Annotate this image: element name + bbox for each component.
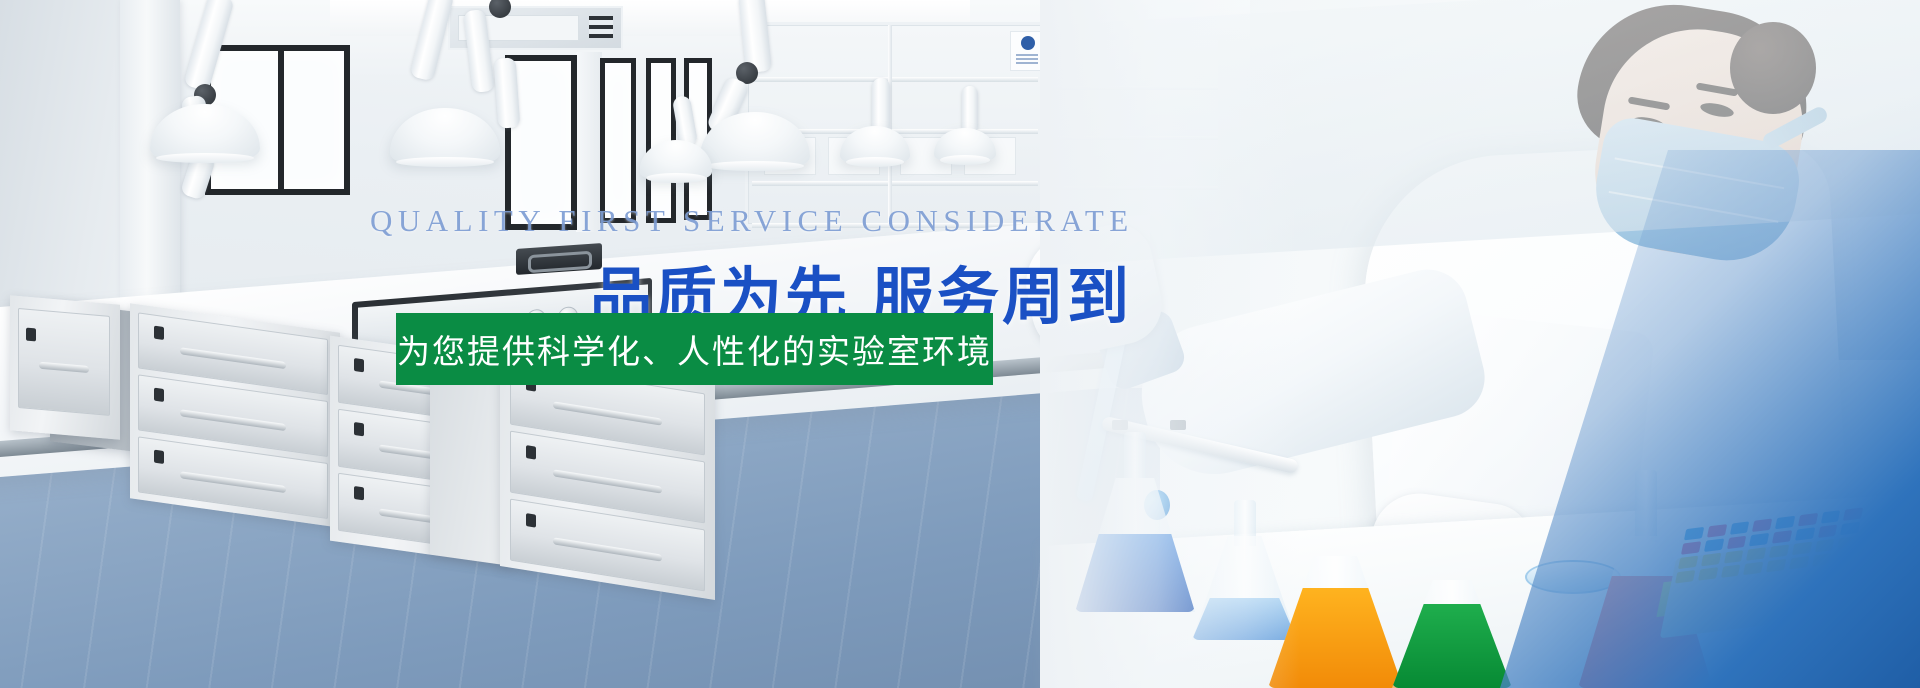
lock-icon: [26, 327, 36, 341]
lock-icon: [154, 325, 164, 339]
lock-icon: [354, 422, 364, 436]
drawer-handle[interactable]: [180, 471, 285, 493]
lab-technician-scene: [1040, 0, 1920, 688]
window-center-2: [600, 58, 636, 223]
lock-icon: [154, 387, 164, 401]
drawer[interactable]: [18, 308, 110, 416]
cabinet-right-front: [500, 351, 715, 600]
banner-eyebrow-text: QUALITY FIRST SERVICE CONSIDERATE: [370, 203, 1134, 239]
lock-icon: [354, 358, 364, 372]
cabinet-a: [130, 303, 340, 528]
lock-icon: [154, 449, 164, 463]
drawer-handle[interactable]: [553, 470, 661, 494]
drawer-handle[interactable]: [180, 409, 285, 431]
erlenmeyer-flask-green: [1392, 580, 1512, 688]
cabinet-panel-center: [430, 354, 510, 565]
drawer-handle[interactable]: [180, 347, 285, 369]
scene-blend-overlay: [1040, 0, 1300, 688]
drawer-handle[interactable]: [553, 402, 661, 426]
lock-icon: [526, 445, 536, 460]
cabinet-leftmost: [10, 295, 120, 440]
drawer-handle[interactable]: [553, 538, 661, 562]
banner-subtitle-text: 为您提供科学化、人性化的实验室环境: [397, 325, 992, 373]
drawer-handle[interactable]: [39, 362, 89, 373]
safety-badge-icon: [1010, 31, 1044, 71]
hero-banner: QUALITY FIRST SERVICE CONSIDERATE 品质为先服务…: [0, 0, 1920, 688]
banner-subtitle-bar: 为您提供科学化、人性化的实验室环境: [396, 313, 993, 385]
lock-icon: [526, 513, 536, 528]
lock-icon: [354, 486, 364, 500]
